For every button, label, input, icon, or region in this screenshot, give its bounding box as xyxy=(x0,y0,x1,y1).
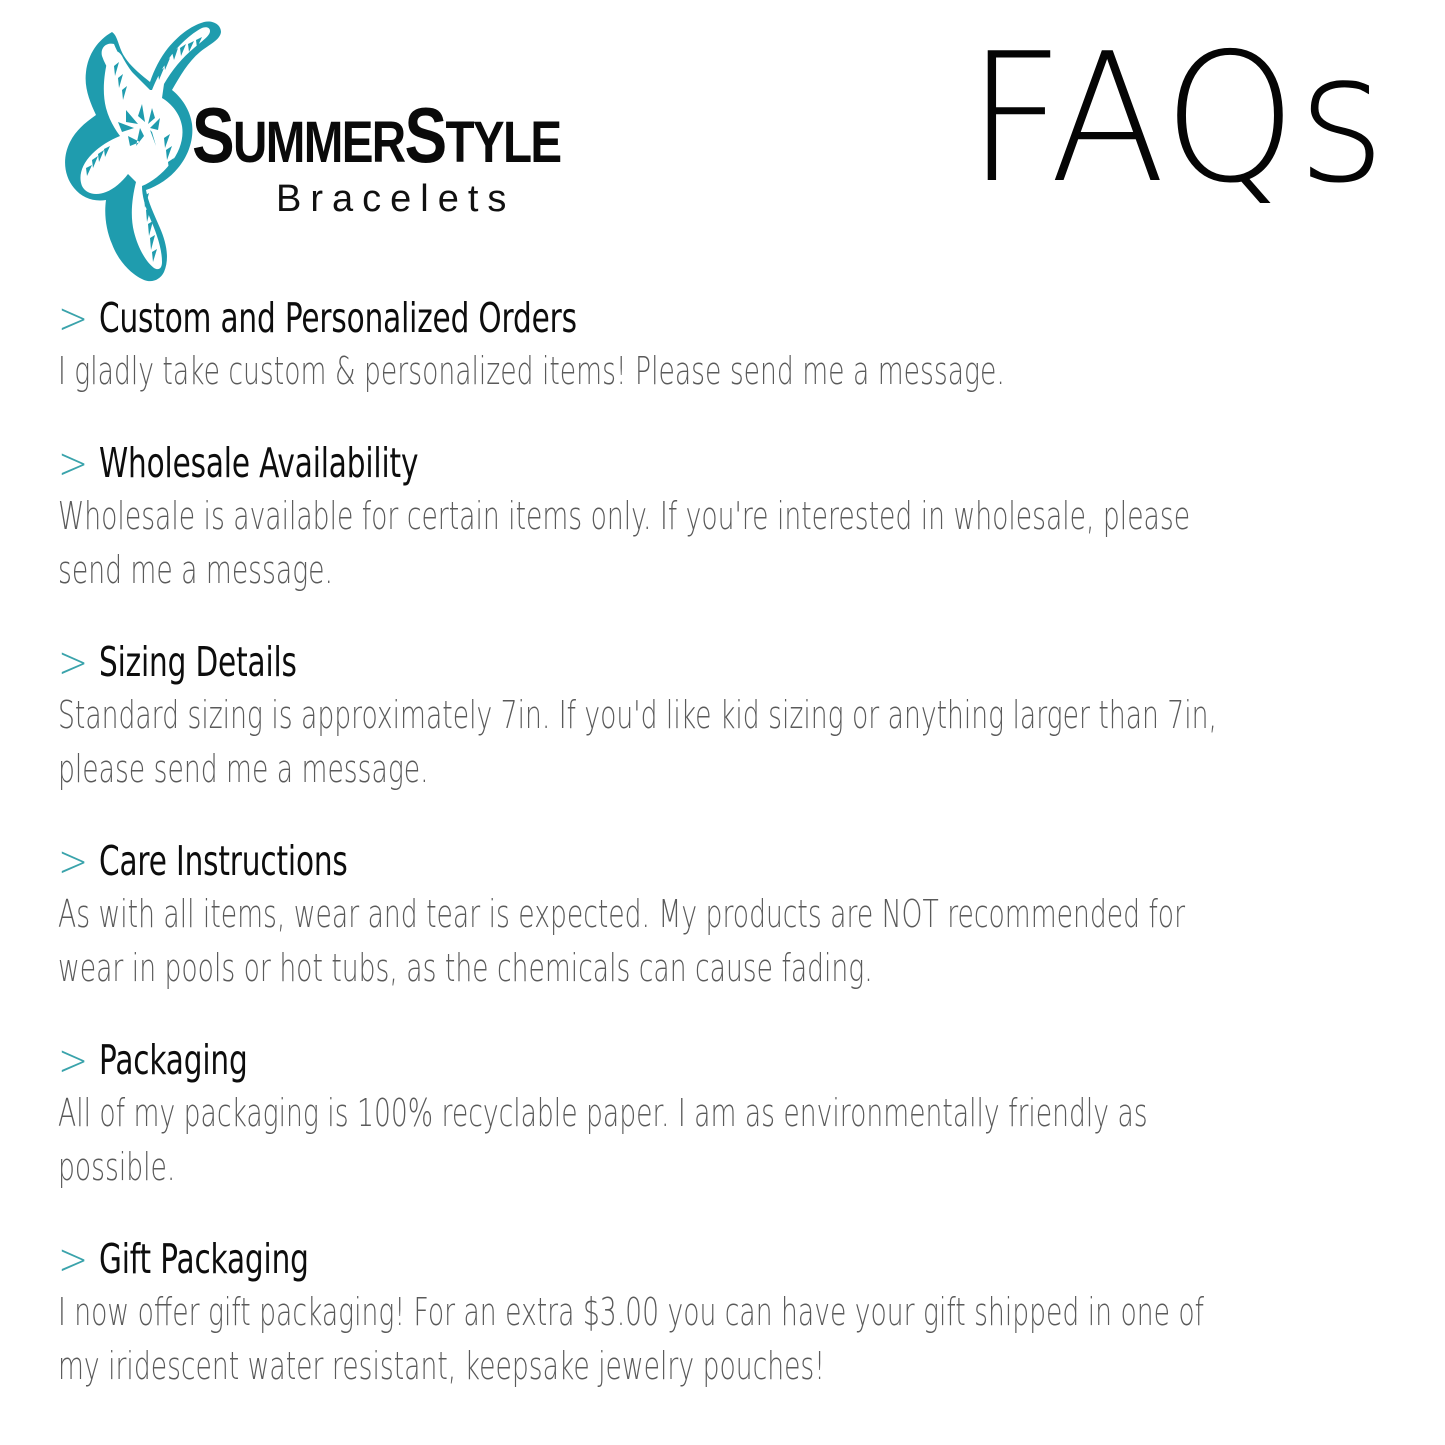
chevron-right-icon: > xyxy=(58,1039,88,1082)
brand-subtitle: Bracelets xyxy=(276,178,652,221)
faq-item: > Care Instructions As with all items, w… xyxy=(58,839,1258,996)
faq-question: > Custom and Personalized Orders xyxy=(58,296,1258,341)
faq-question-text: Packaging xyxy=(99,1038,248,1083)
faq-answer-text: I gladly take custom & personalized item… xyxy=(58,345,1241,399)
faq-question-text: Custom and Personalized Orders xyxy=(99,296,577,341)
brand-name-s2: S xyxy=(404,91,445,179)
faq-answer-text: All of my packaging is 100% recyclable p… xyxy=(58,1087,1241,1195)
faq-question: > Packaging xyxy=(58,1038,1258,1083)
faq-item: > Sizing Details Standard sizing is appr… xyxy=(58,640,1258,797)
faq-answer-text: As with all items, wear and tear is expe… xyxy=(58,888,1241,996)
faq-list: > Custom and Personalized Orders I gladl… xyxy=(58,296,1258,1394)
faq-question-text: Wholesale Availability xyxy=(99,441,418,486)
brand-wordmark: SUMMERSTYLE Bracelets xyxy=(192,100,652,221)
brand-name-tyle: TYLE xyxy=(446,110,561,175)
chevron-right-icon: > xyxy=(58,641,88,684)
faq-question: > Gift Packaging xyxy=(58,1237,1258,1282)
faq-question-text: Gift Packaging xyxy=(99,1237,309,1282)
faq-question: > Care Instructions xyxy=(58,839,1258,884)
chevron-right-icon: > xyxy=(58,1238,88,1281)
brand-name-ummer: UMMER xyxy=(233,110,404,175)
faq-item: > Packaging All of my packaging is 100% … xyxy=(58,1038,1258,1195)
faq-question: > Sizing Details xyxy=(58,640,1258,685)
brand-name: SUMMERSTYLE xyxy=(192,100,569,172)
faq-item: > Wholesale Availability Wholesale is av… xyxy=(58,441,1258,598)
page-title: FAQs xyxy=(968,30,1387,208)
chevron-right-icon: > xyxy=(58,442,88,485)
faq-item: > Gift Packaging I now offer gift packag… xyxy=(58,1237,1258,1394)
faq-page: SUMMERSTYLE Bracelets FAQs > Custom and … xyxy=(0,0,1445,1445)
faq-answer-text: Wholesale is available for certain items… xyxy=(58,490,1241,598)
brand-logo: SUMMERSTYLE Bracelets xyxy=(52,18,652,283)
chevron-right-icon: > xyxy=(58,840,88,883)
chevron-right-icon: > xyxy=(58,297,88,340)
faq-answer-text: I now offer gift packaging! For an extra… xyxy=(58,1286,1241,1394)
brand-name-s1: S xyxy=(192,91,233,179)
page-header: SUMMERSTYLE Bracelets FAQs xyxy=(0,0,1445,288)
faq-question-text: Care Instructions xyxy=(99,839,348,884)
faq-question-text: Sizing Details xyxy=(99,640,297,685)
faq-answer-text: Standard sizing is approximately 7in. If… xyxy=(58,689,1241,797)
faq-item: > Custom and Personalized Orders I gladl… xyxy=(58,296,1258,399)
faq-question: > Wholesale Availability xyxy=(58,441,1258,486)
